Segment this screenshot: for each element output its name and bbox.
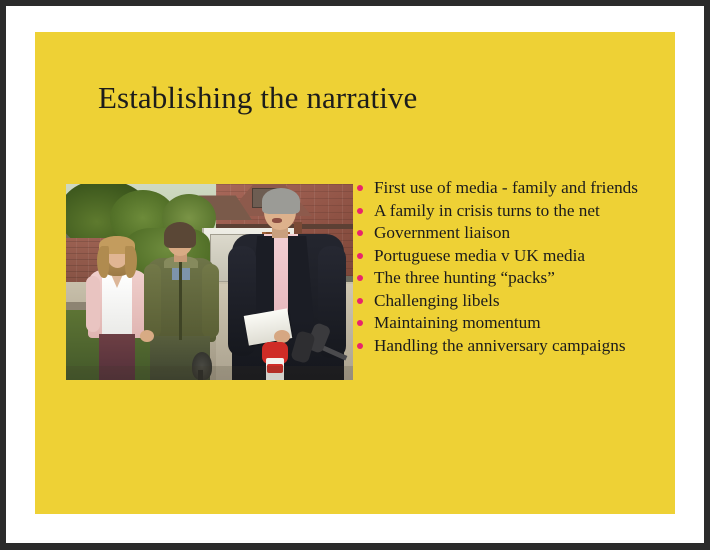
list-item: Maintaining momentum xyxy=(353,313,665,334)
list-item: First use of media - family and friends xyxy=(353,178,665,199)
bullet-dot-icon xyxy=(357,185,363,191)
list-item-label: First use of media - family and friends xyxy=(374,178,638,197)
list-item: A family in crisis turns to the net xyxy=(353,201,665,222)
list-item: The three hunting “packs” xyxy=(353,268,665,289)
slide-viewer: Establishing the narrative xyxy=(0,0,710,550)
bullet-dot-icon xyxy=(357,298,363,304)
bullet-dot-icon xyxy=(357,275,363,281)
document-page: Establishing the narrative xyxy=(6,6,704,543)
list-item-label: Challenging libels xyxy=(374,291,500,310)
bullet-dot-icon xyxy=(357,320,363,326)
bullet-dot-icon xyxy=(357,343,363,349)
photo-man-sleeve-left xyxy=(144,264,161,338)
list-item-label: A family in crisis turns to the net xyxy=(374,201,600,220)
list-item-label: The three hunting “packs” xyxy=(374,268,555,287)
page-title: Establishing the narrative xyxy=(98,80,638,116)
photo-frame xyxy=(66,184,353,380)
list-item: Portuguese media v UK media xyxy=(353,246,665,267)
press-conference-photo xyxy=(66,184,353,380)
photo-foreground-shadow xyxy=(66,366,353,380)
photo-woman-hair-left xyxy=(97,246,109,278)
photo-held-hands xyxy=(140,330,154,342)
list-item-label: Portuguese media v UK media xyxy=(374,246,585,265)
list-item: Handling the anniversary campaigns xyxy=(353,336,665,357)
bullet-dot-icon xyxy=(357,253,363,259)
list-item: Challenging libels xyxy=(353,291,665,312)
photo-man-sleeve-right xyxy=(202,264,219,338)
list-item-label: Handling the anniversary campaigns xyxy=(374,336,626,355)
photo-speaker-mouth xyxy=(272,218,282,223)
bullet-list: First use of media - family and friends … xyxy=(353,178,665,358)
photo-man-hair xyxy=(164,222,196,248)
bullet-dot-icon xyxy=(357,208,363,214)
list-item-label: Government liaison xyxy=(374,223,510,242)
list-item: Government liaison xyxy=(353,223,665,244)
photo-speaker-hair xyxy=(262,188,300,214)
photo-man-zip xyxy=(179,260,182,340)
presentation-slide: Establishing the narrative xyxy=(35,32,675,514)
list-item-label: Maintaining momentum xyxy=(374,313,541,332)
bullet-dot-icon xyxy=(357,230,363,236)
photo-woman-arm xyxy=(86,276,100,332)
